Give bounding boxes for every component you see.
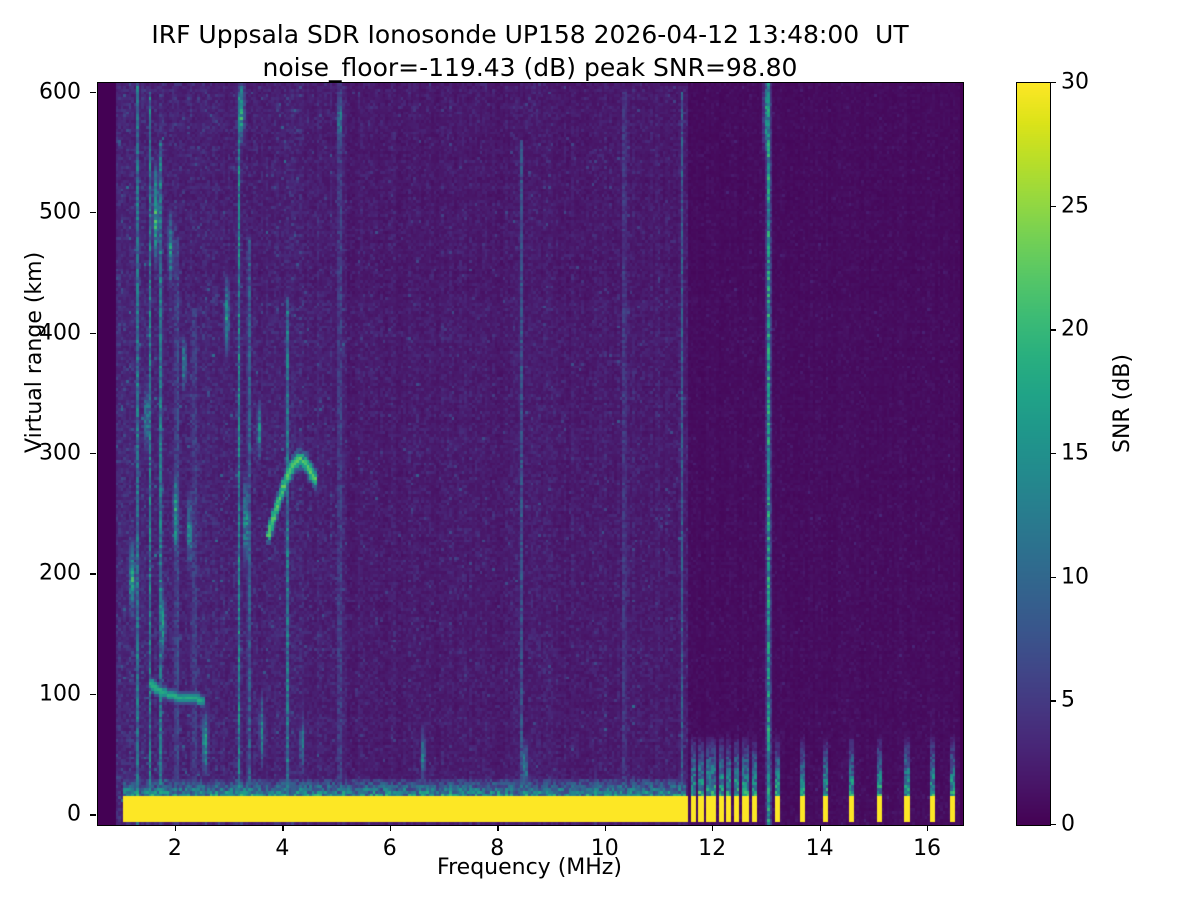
y-tick-mark <box>90 92 96 93</box>
y-tick-mark <box>90 212 96 213</box>
colorbar-tick-label: 20 <box>1061 317 1089 342</box>
x-tick-mark <box>820 825 821 831</box>
y-tick-mark <box>90 333 96 334</box>
y-tick-mark <box>90 453 96 454</box>
colorbar-tick-label: 25 <box>1061 193 1089 218</box>
y-axis-label: Virtual range (km) <box>22 252 47 453</box>
colorbar-gradient <box>1017 83 1050 825</box>
y-tick-label: 600 <box>0 79 81 104</box>
colorbar-tick-label: 0 <box>1061 812 1075 837</box>
x-tick-mark <box>175 825 176 831</box>
colorbar-tick-mark <box>1050 206 1056 207</box>
x-tick-mark <box>605 825 606 831</box>
colorbar-tick-mark <box>1050 700 1056 701</box>
ionogram-figure: IRF Uppsala SDR Ionosonde UP158 2026-04-… <box>0 0 1200 900</box>
colorbar-tick-label: 15 <box>1061 441 1089 466</box>
y-tick-label: 500 <box>0 200 81 225</box>
x-tick-mark <box>282 825 283 831</box>
colorbar-tick-label: 5 <box>1061 688 1075 713</box>
x-axis-label: Frequency (MHz) <box>97 855 962 880</box>
x-tick-mark <box>712 825 713 831</box>
ionogram-heatmap <box>98 83 963 825</box>
snr-colorbar <box>1016 82 1051 826</box>
figure-title: IRF Uppsala SDR Ionosonde UP158 2026-04-… <box>0 18 1060 84</box>
y-tick-mark <box>90 573 96 574</box>
x-tick-mark <box>390 825 391 831</box>
x-tick-mark <box>497 825 498 831</box>
y-tick-label: 200 <box>0 561 81 586</box>
colorbar-tick-mark <box>1050 82 1056 83</box>
colorbar-tick-mark <box>1050 329 1056 330</box>
y-tick-label: 100 <box>0 681 81 706</box>
y-tick-mark <box>90 814 96 815</box>
ionogram-axes <box>97 82 964 826</box>
colorbar-tick-label: 30 <box>1061 70 1089 95</box>
colorbar-label: SNR (dB) <box>1110 354 1135 453</box>
y-tick-label: 0 <box>0 802 81 827</box>
x-tick-mark <box>927 825 928 831</box>
colorbar-tick-mark <box>1050 824 1056 825</box>
colorbar-tick-mark <box>1050 453 1056 454</box>
colorbar-tick-label: 10 <box>1061 564 1089 589</box>
title-line-1: IRF Uppsala SDR Ionosonde UP158 2026-04-… <box>0 18 1060 51</box>
y-tick-mark <box>90 694 96 695</box>
title-line-2: noise_floor=-119.43 (dB) peak SNR=98.80 <box>0 51 1060 84</box>
colorbar-tick-mark <box>1050 577 1056 578</box>
